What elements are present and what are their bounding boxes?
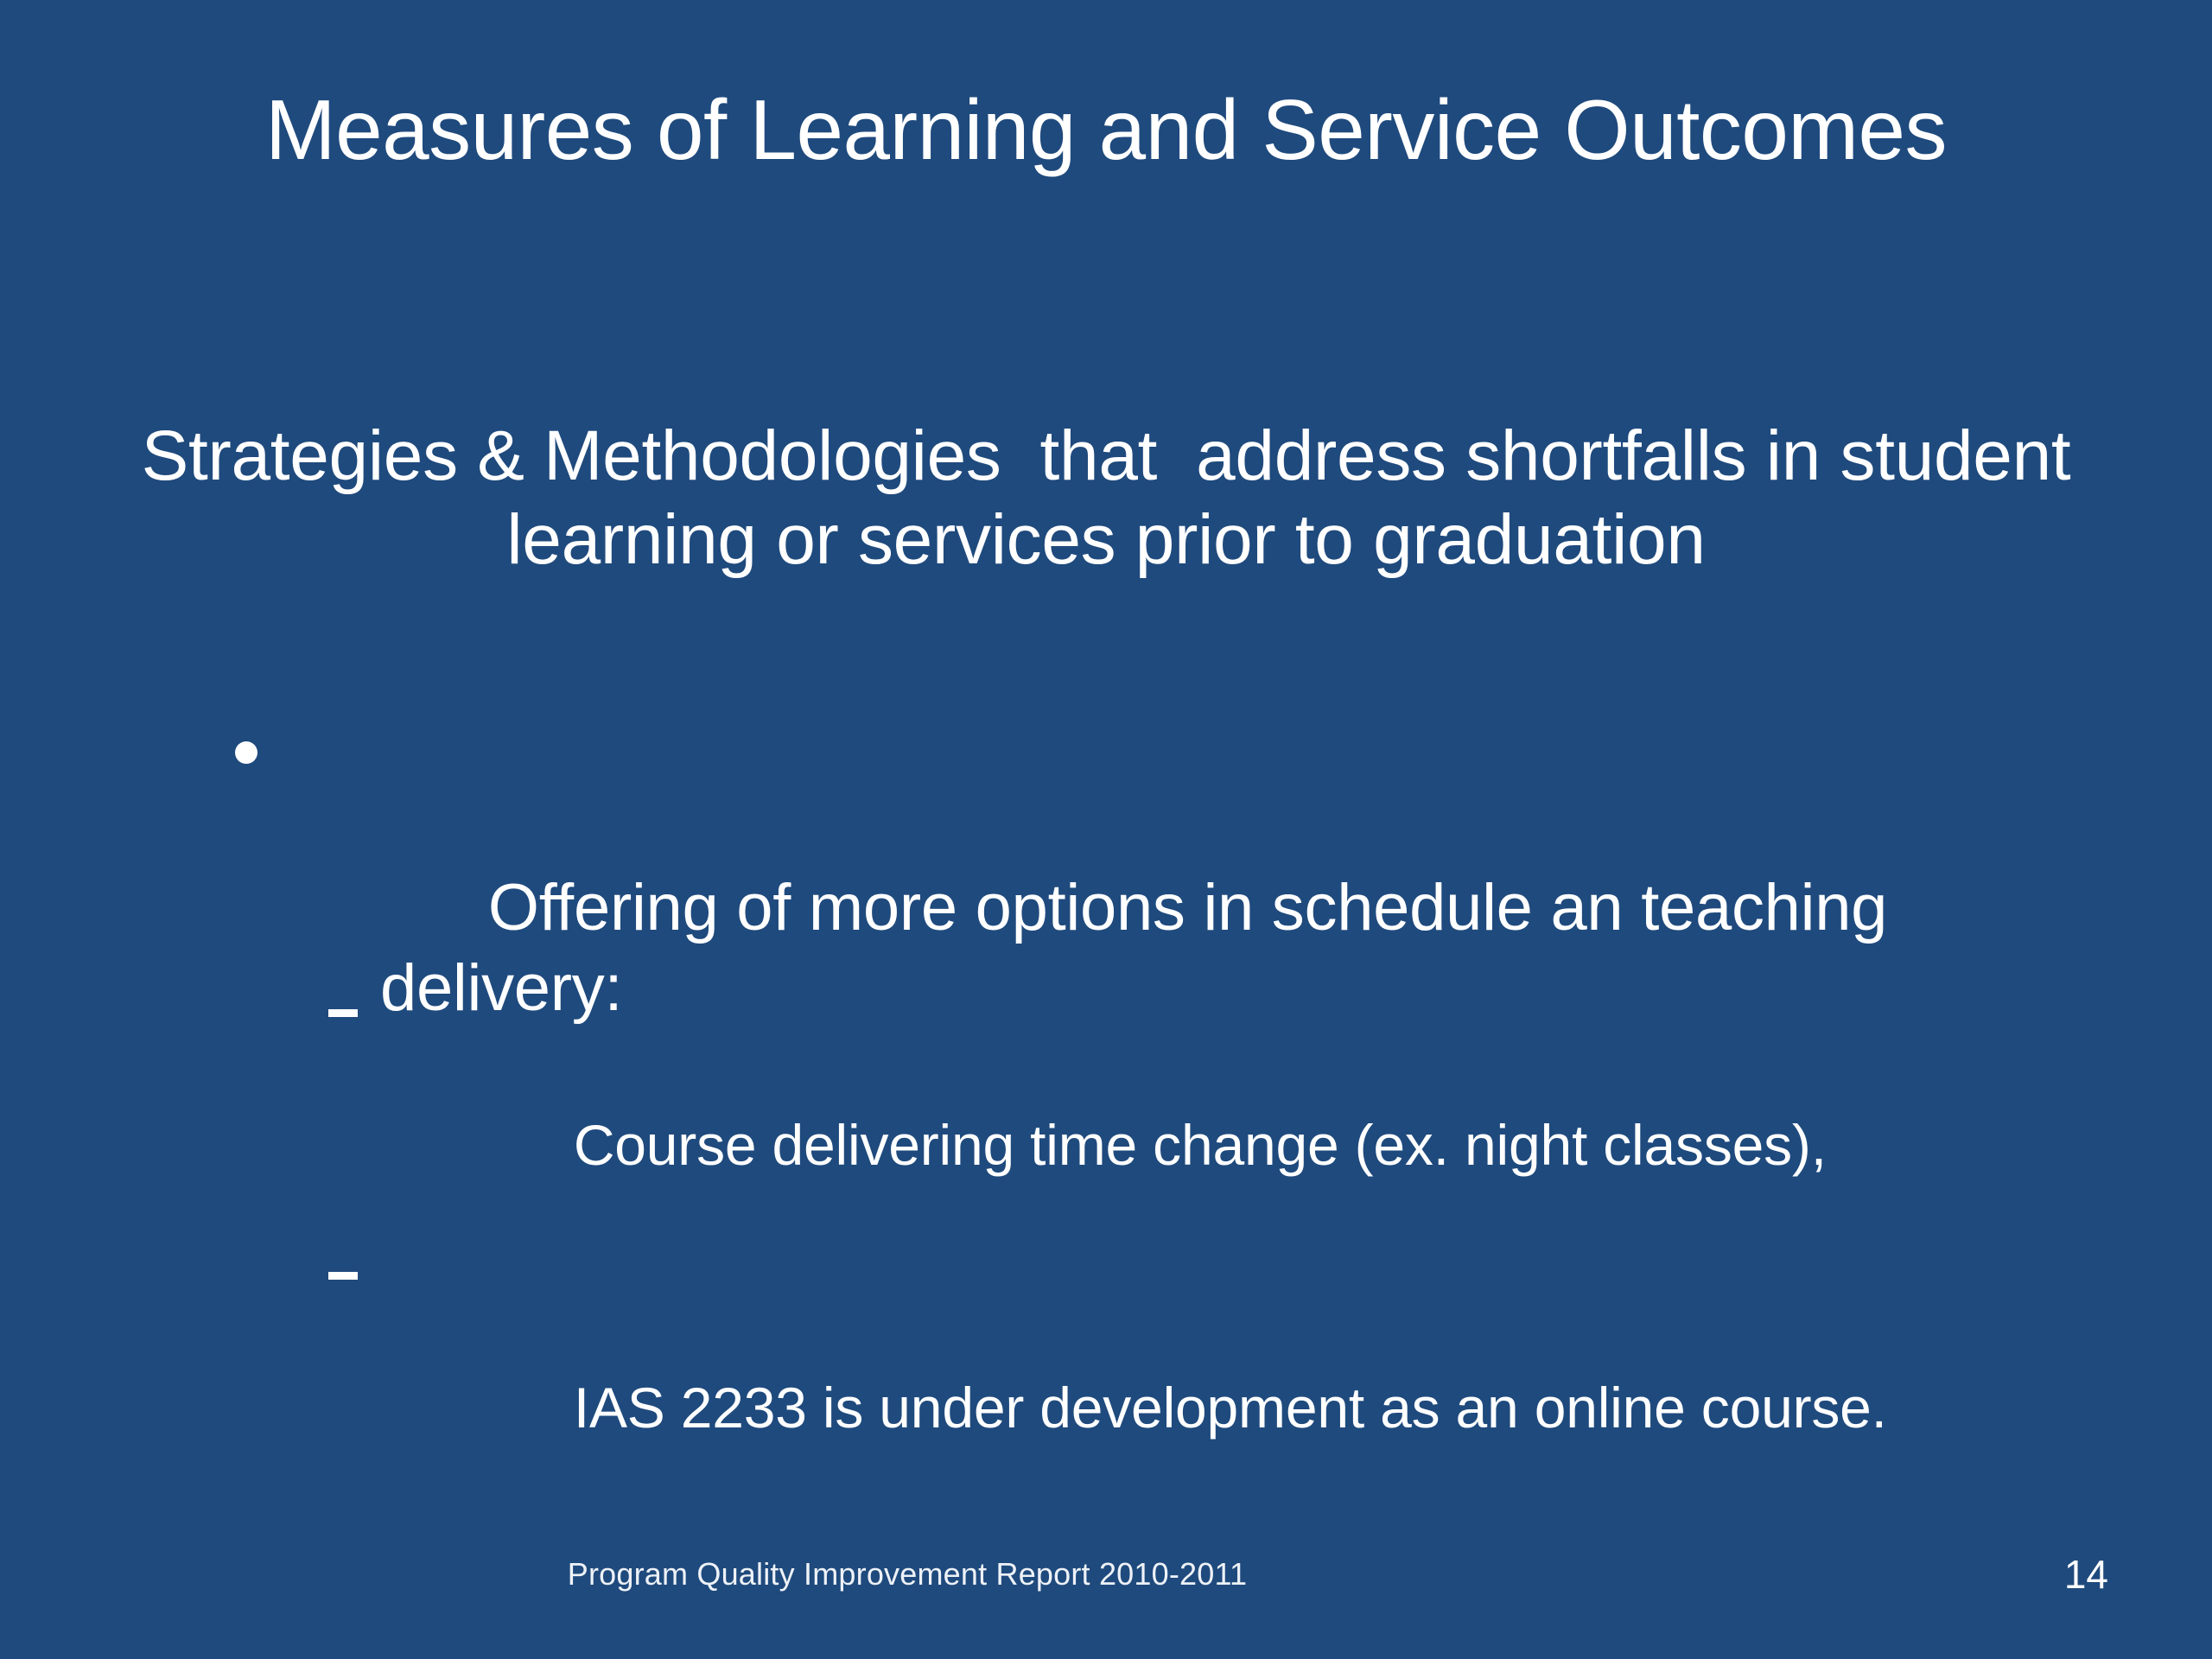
- dash-bullet-icon: [328, 1009, 358, 1017]
- intro-block: Strategies & Methodologies that address …: [112, 415, 2100, 582]
- list-item: IAS 2233 is under development as an onli…: [311, 1265, 2143, 1493]
- sub-bullet-item-label: Course delivering time change (ex. night…: [574, 1113, 1827, 1177]
- intro-paragraph: Strategies & Methodologies that address …: [112, 415, 2100, 582]
- dash-bullet-icon: [328, 1272, 358, 1280]
- page-title: Measures of Learning and Service Outcome…: [156, 85, 2056, 176]
- slide-footer: Program Quality Improvement Report 2010-…: [0, 1555, 1815, 1592]
- sub-bullet-list: Course delivering time change (ex. night…: [311, 1002, 2143, 1493]
- round-bullet-icon: [235, 741, 257, 764]
- page-number: 14: [2064, 1551, 2108, 1599]
- sub-bullet-item-label: IAS 2233 is under development as an onli…: [574, 1376, 1887, 1440]
- slide-canvas: Measures of Learning and Service Outcome…: [0, 0, 2212, 1659]
- list-item: Course delivering time change (ex. night…: [311, 1002, 2143, 1230]
